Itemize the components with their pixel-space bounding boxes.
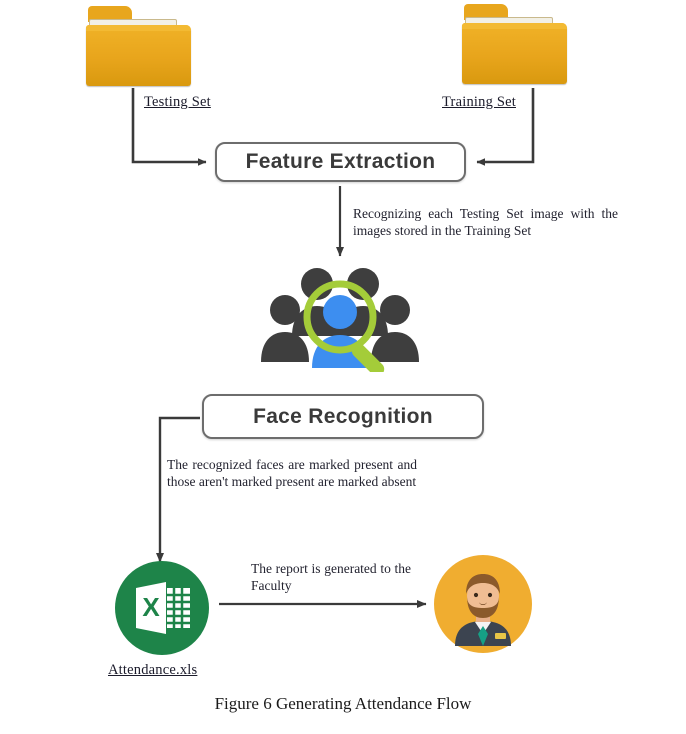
excel-sheet-grid [167, 588, 190, 628]
excel-file-icon: X [114, 560, 210, 656]
folder-icon [462, 4, 567, 86]
annotation-marking: The recognized faces are marked present … [167, 456, 417, 490]
folder-icon [86, 6, 191, 88]
training-set-folder[interactable] [462, 4, 567, 86]
faculty-avatar-icon [433, 554, 533, 654]
face-recognition-label: Face Recognition [253, 405, 433, 429]
feature-extraction-label: Feature Extraction [246, 150, 436, 174]
annotation-report: The report is generated to the Faculty [251, 560, 411, 594]
people-magnifier-icon [255, 262, 425, 372]
testing-set-label: Testing Set [144, 94, 211, 111]
folder-body [86, 25, 191, 86]
attendance-flow-diagram: Testing Set Training Set Feature Extract… [0, 0, 686, 734]
attendance-file-icon[interactable]: X [114, 560, 210, 661]
avatar-name-badge [495, 633, 506, 639]
excel-x-glyph: X [142, 592, 160, 622]
training-set-label: Training Set [442, 94, 516, 111]
avatar-eye-left [474, 593, 478, 597]
feature-extraction-box[interactable]: Feature Extraction [215, 142, 466, 182]
connector-face-recognition-to-attendance [160, 418, 200, 562]
avatar-eye-right [488, 593, 492, 597]
folder-body [462, 23, 567, 84]
face-recognition-box[interactable]: Face Recognition [202, 394, 484, 439]
faculty-avatar[interactable] [433, 554, 533, 659]
testing-set-folder[interactable] [86, 6, 191, 88]
figure-caption: Figure 6 Generating Attendance Flow [0, 694, 686, 714]
face-recognition-icon [255, 262, 425, 377]
attendance-file-label: Attendance.xls [108, 662, 197, 679]
annotation-recognizing: Recognizing each Testing Set image with … [353, 205, 618, 239]
